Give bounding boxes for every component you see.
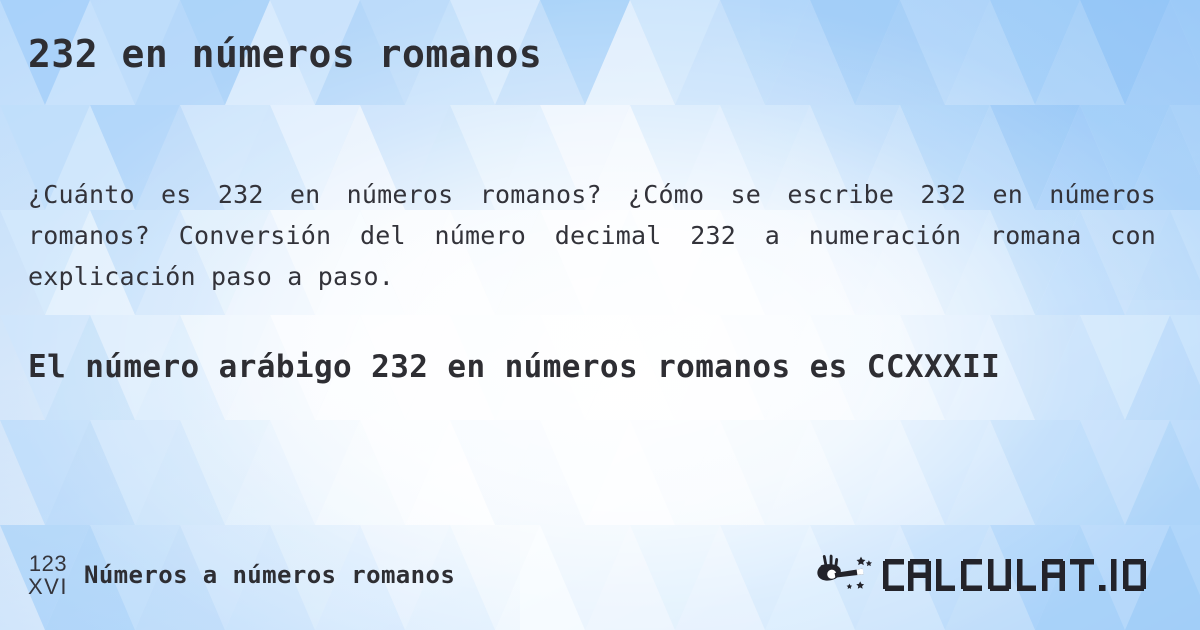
numbers-to-roman-mark-icon: 123 XVI — [28, 553, 68, 598]
card-footer: 123 XVI Números a números romanos — [0, 546, 1200, 604]
intro-paragraph: ¿Cuánto es 232 en números romanos? ¿Cómo… — [28, 174, 1156, 297]
page-title: 232 en números romanos — [28, 30, 542, 78]
footer-category-label: Números a números romanos — [84, 561, 455, 589]
calculatio-wordmark — [882, 556, 1172, 594]
card-content: 232 en números romanos ¿Cuánto es 232 en… — [0, 0, 1200, 630]
mark-roman-label: XVI — [28, 576, 68, 598]
footer-left-group: 123 XVI Números a números romanos — [28, 553, 455, 598]
hand-magic-wand-icon — [812, 553, 874, 597]
mark-arabic-label: 123 — [29, 553, 67, 575]
brand-logo: CALCULAT.IO — [812, 553, 1172, 597]
share-card: 232 en números romanos ¿Cuánto es 232 en… — [0, 0, 1200, 630]
result-statement: El número arábigo 232 en números romanos… — [28, 344, 1138, 390]
